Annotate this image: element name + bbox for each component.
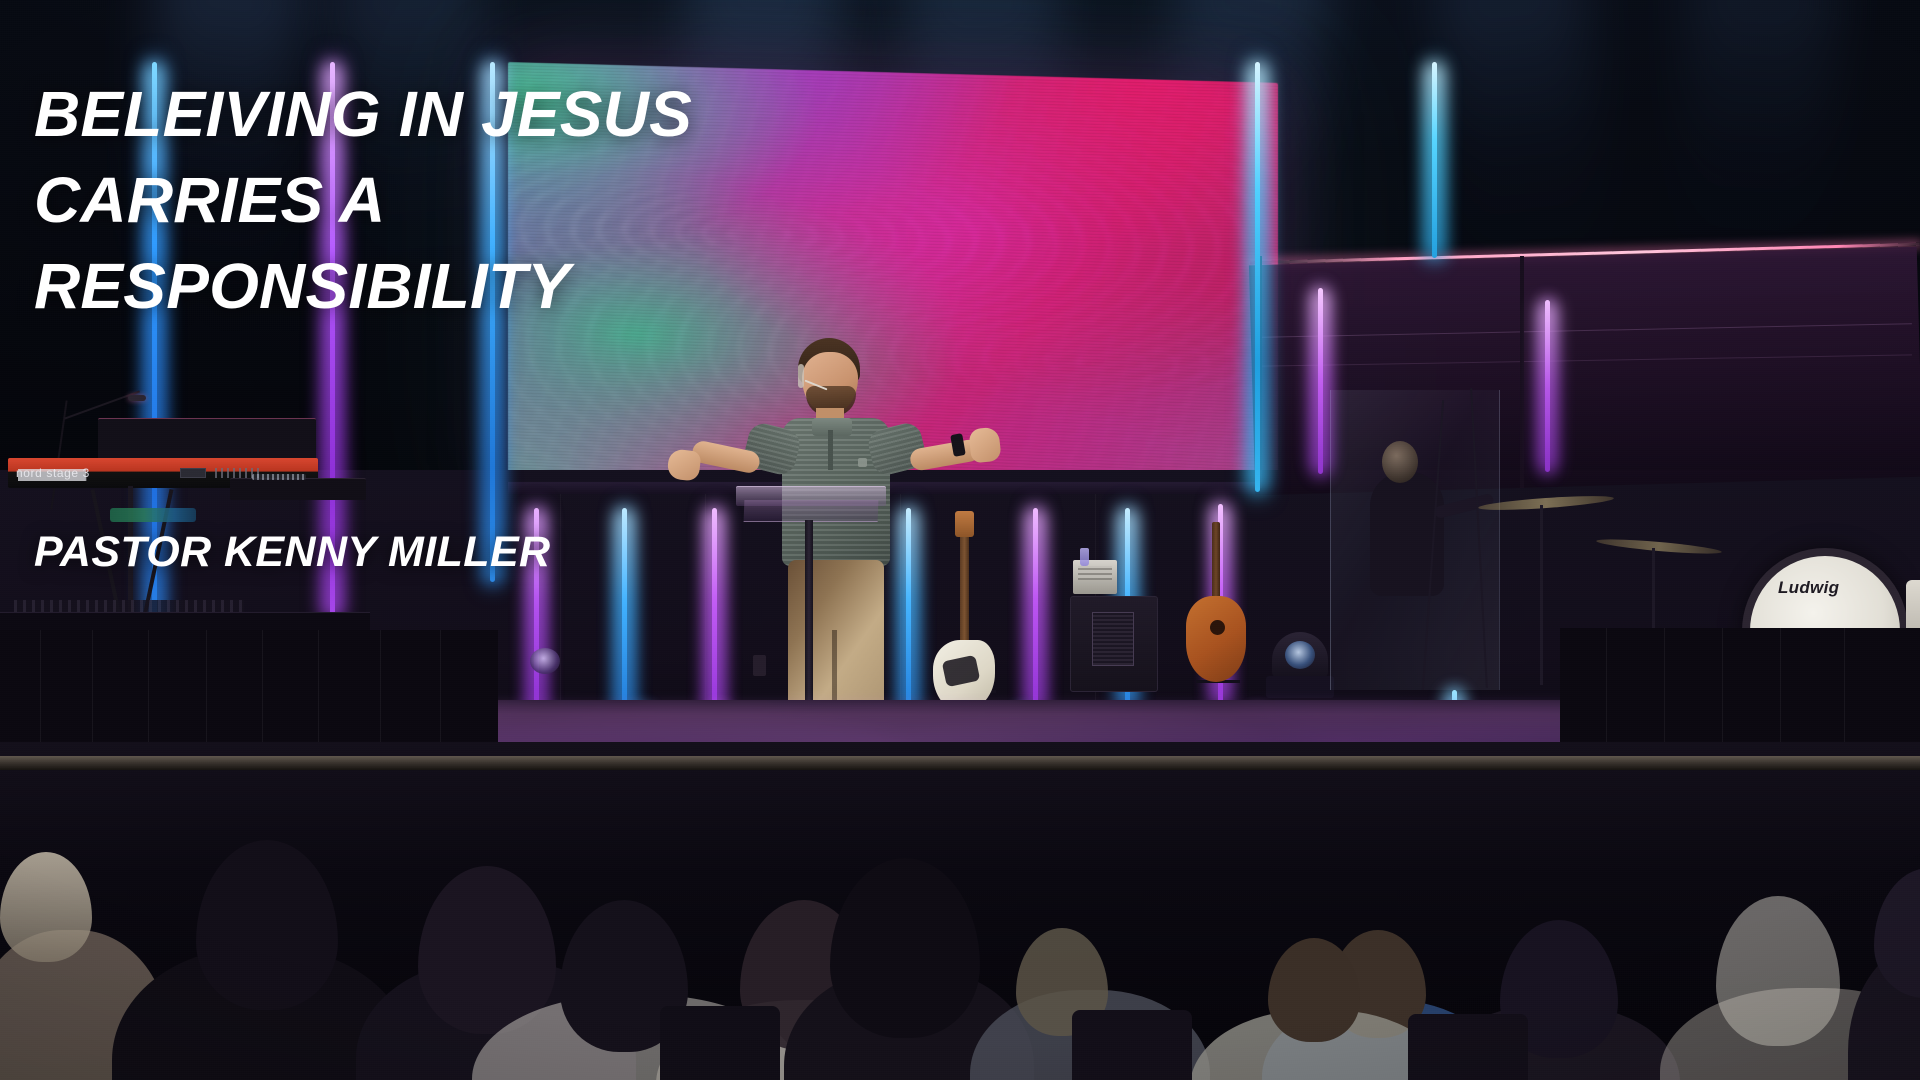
speaker-name: PASTOR KENNY MILLER	[34, 528, 550, 577]
stage-skirt	[0, 630, 498, 756]
skirt-pleat	[148, 630, 149, 756]
neon-tube-magenta	[1318, 288, 1323, 474]
skirt-pleat	[380, 630, 381, 756]
skirt-pleat	[92, 630, 93, 756]
skirt-pleat	[206, 630, 207, 756]
podium-stem	[805, 520, 813, 716]
left-gear-rack	[14, 600, 244, 612]
seat-back	[1072, 1010, 1192, 1080]
moving-head-base	[1266, 676, 1334, 698]
neon-tube-cyan	[1255, 62, 1260, 492]
wall-panel-seam	[560, 494, 561, 704]
neon-tube-cyan	[1432, 62, 1437, 258]
neon-tube-magenta	[712, 508, 717, 714]
pastor-right-hand	[968, 427, 1001, 464]
moving-head-lens	[1285, 641, 1315, 669]
pastor-placket	[828, 430, 833, 470]
neon-tube-magenta	[1545, 300, 1550, 472]
sermon-title-card: nord stage 3 Ludwig	[0, 0, 1920, 1080]
stage-skirt	[1560, 628, 1920, 760]
moving-head-light	[530, 648, 560, 674]
wall-outlet-plate	[753, 655, 766, 676]
skirt-pleat	[1664, 628, 1665, 760]
bass-drum-logo: Ludwig	[1778, 578, 1839, 598]
pastor-on-stage	[720, 330, 1100, 750]
skirt-pleat	[1722, 628, 1723, 760]
skirt-pleat	[318, 630, 319, 756]
skirt-pleat	[262, 630, 263, 756]
skirt-pleat	[1844, 628, 1845, 760]
headset-mic-band	[798, 364, 804, 388]
acoustic-guitar-soundhole	[1210, 620, 1225, 635]
skirt-pleat	[40, 630, 41, 756]
pastor-shirt-logo	[858, 458, 867, 467]
skirt-pleat	[440, 630, 441, 756]
keyboard-controller-strip	[252, 474, 306, 480]
keyboard-panel-display	[180, 468, 206, 478]
riser-upright	[1520, 256, 1524, 488]
second-keyboard-deck	[230, 478, 366, 500]
acrylic-podium-face	[744, 500, 879, 522]
cymbal-stand	[1540, 505, 1543, 685]
stage-pedalboard	[110, 508, 196, 522]
acoustic-guitar-body	[1186, 596, 1246, 682]
skirt-pleat	[1606, 628, 1607, 760]
pastor-wristband	[950, 433, 966, 457]
title-line-2: CARRIES A	[34, 158, 692, 244]
title-line-1: BELEIVING IN JESUS	[34, 72, 692, 158]
seat-back	[1408, 1014, 1528, 1080]
seat-back	[660, 1006, 780, 1080]
sermon-title: BELEIVING IN JESUS CARRIES A RESPONSIBIL…	[34, 72, 692, 329]
skirt-pleat	[1780, 628, 1781, 760]
house-front-rail	[0, 756, 1920, 770]
neon-tube-blue	[622, 508, 627, 716]
nord-keyboard-brandtext: nord stage 3	[16, 466, 90, 480]
title-line-3: RESPONSIBILITY	[34, 244, 692, 330]
keyboard-mic-capsule	[128, 395, 146, 401]
drummer-head	[1382, 441, 1418, 483]
